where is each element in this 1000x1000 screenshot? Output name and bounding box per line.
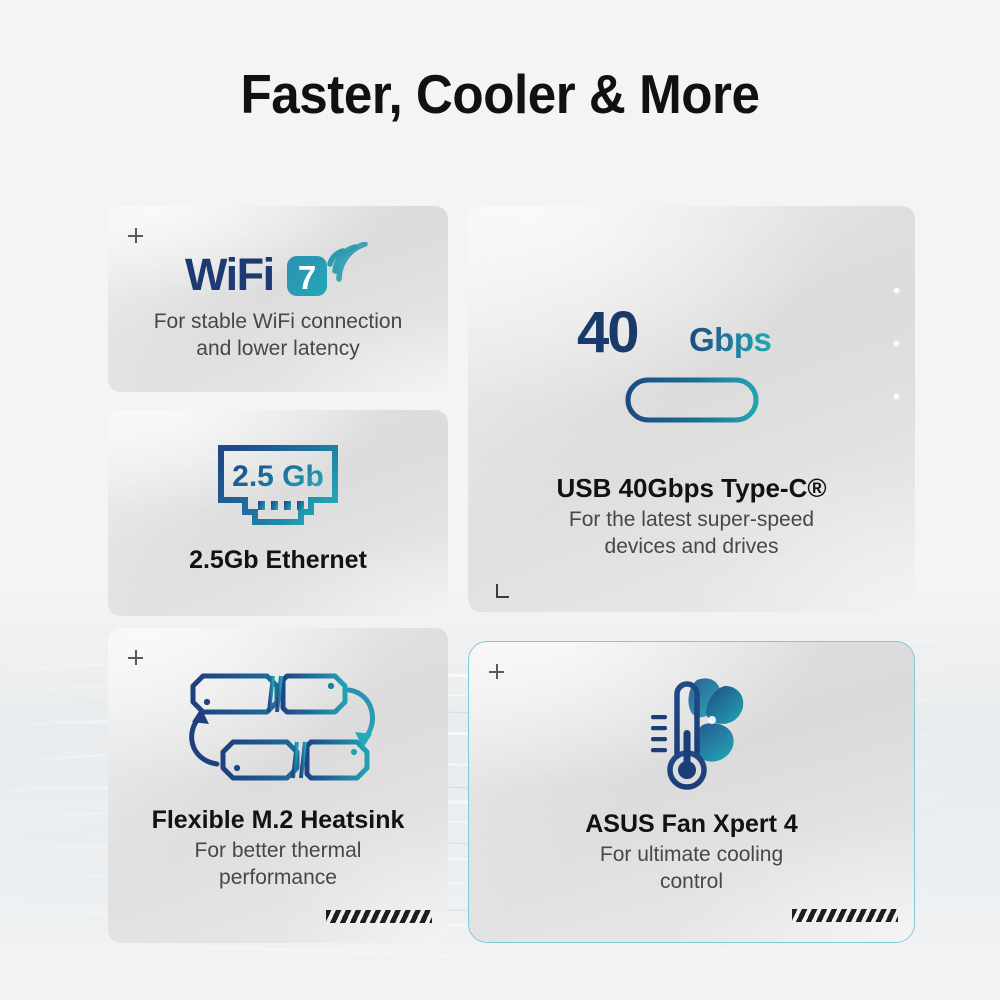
usb-speed-headline: 40 Gbps [577,302,807,364]
card-wifi-7-subtitle-line1: For stable WiFi connection [154,309,403,336]
hatched-stripe-decoration [326,910,432,923]
feature-card-grid: WiFi 7 For stable WiFi connection and lo… [0,0,1000,1000]
m2-heatsink-svg [171,664,385,792]
card-25gb-ethernet[interactable]: 2.5 Gb 2.5Gb Ethernet [108,410,448,616]
card-m2-heatsink-title: Flexible M.2 Heatsink [152,806,405,835]
plus-marker-icon [128,650,143,665]
svg-text:Gbps: Gbps [689,321,771,358]
ethernet-icon-label: 2.5 Gb [232,460,324,493]
thermometer-fan-svg [633,672,751,796]
card-m2-heatsink-subtitle-line2: performance [195,865,362,892]
card-usb-40gbps-title: USB 40Gbps Type-C® [556,474,826,504]
hatched-stripe-decoration [792,909,898,922]
card-25gb-ethernet-title: 2.5Gb Ethernet [189,546,367,575]
corner-bracket-mark [496,584,509,598]
plus-marker-icon [489,664,504,679]
card-m2-heatsink-body: Flexible M.2 Heatsink For better thermal… [108,664,448,892]
card-wifi-7[interactable]: WiFi 7 For stable WiFi connection and lo… [108,206,448,392]
card-asus-fan-xpert-4[interactable]: ASUS Fan Xpert 4 For ultimate cooling co… [468,641,915,943]
thermometer-fan-icon [633,672,751,796]
svg-text:40: 40 [577,302,638,364]
svg-text:WiFi: WiFi [185,249,274,300]
card-usb-40gbps-subtitle-line2: devices and drives [569,534,814,561]
card-asus-fan-xpert-4-subtitle-line2: control [600,869,783,896]
card-usb-40gbps-body: 40 Gbps USB 40Gbps [468,302,915,561]
usb-40gbps-text-svg: 40 Gbps [577,302,807,364]
page-title: Faster, Cooler & More [35,62,965,126]
wifi-7-logo-svg: WiFi 7 [183,242,373,302]
card-wifi-7-subtitle-line2: and lower latency [154,336,403,363]
card-asus-fan-xpert-4-body: ASUS Fan Xpert 4 For ultimate cooling co… [469,672,914,896]
ethernet-port-svg: 2.5 Gb [215,442,341,534]
card-usb-40gbps[interactable]: 40 Gbps USB 40Gbps [468,206,915,612]
plus-marker-icon [128,228,143,243]
svg-text:7: 7 [298,259,316,296]
card-asus-fan-xpert-4-title: ASUS Fan Xpert 4 [585,810,798,839]
card-usb-40gbps-subtitle-line1: For the latest super-speed [569,507,814,534]
card-m2-heatsink[interactable]: Flexible M.2 Heatsink For better thermal… [108,628,448,943]
card-m2-heatsink-subtitle-line1: For better thermal [195,838,362,865]
card-asus-fan-xpert-4-subtitle-line1: For ultimate cooling [600,842,783,869]
card-edge-dots [894,288,899,447]
m2-heatsink-cycle-icon [171,664,385,792]
ethernet-rj45-port-icon: 2.5 Gb [215,442,341,534]
card-25gb-ethernet-body: 2.5 Gb 2.5Gb Ethernet [108,442,448,575]
usb-type-c-port-svg [624,374,760,426]
usb-type-c-port-icon [624,374,760,426]
card-wifi-7-body: WiFi 7 For stable WiFi connection and lo… [108,242,448,363]
wifi-7-logo-icon: WiFi 7 [183,242,373,302]
